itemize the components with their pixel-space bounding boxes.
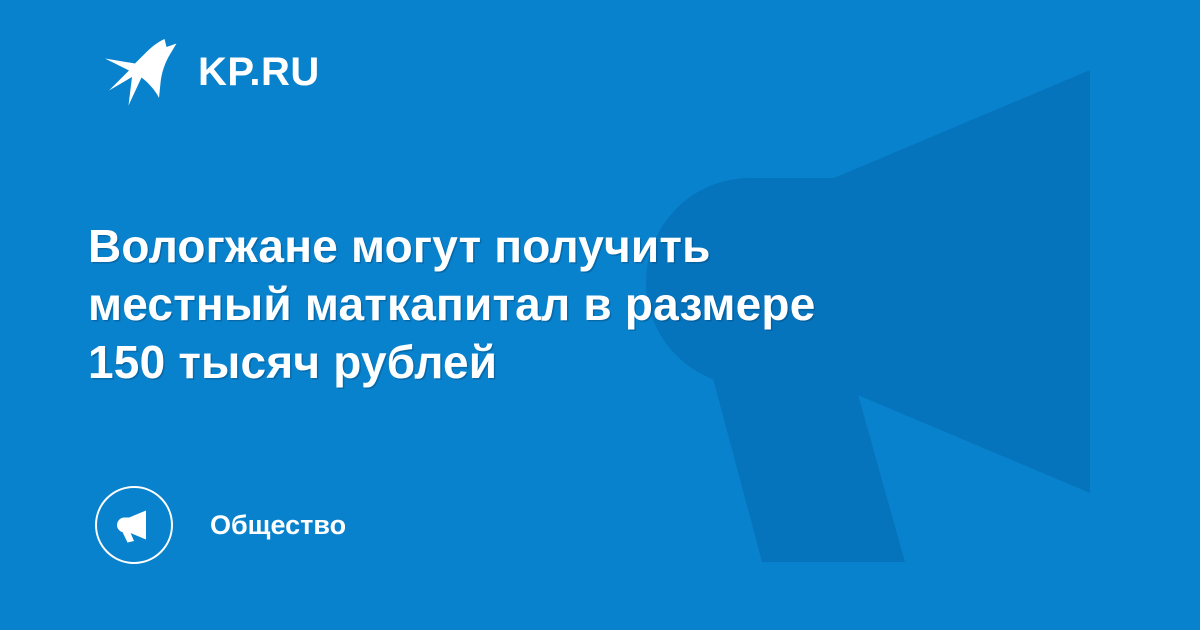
headline: Вологжане могут получить местный маткапи… [88,217,1048,391]
brand-name: KP.RU [198,52,320,92]
social-share-card: KP.RU Вологжане могут получить местный м… [0,0,1200,630]
megaphone-icon [95,486,173,564]
headline-line: местный маткапитал в размере [88,275,1048,333]
headline-line: Вологжане могут получить [88,217,1048,275]
headline-line: 150 тысяч рублей [88,333,1048,391]
category-label: Общество [210,512,346,539]
category-badge[interactable]: Общество [95,486,346,564]
swallow-bird-icon [102,36,178,108]
site-brand[interactable]: KP.RU [102,36,320,108]
